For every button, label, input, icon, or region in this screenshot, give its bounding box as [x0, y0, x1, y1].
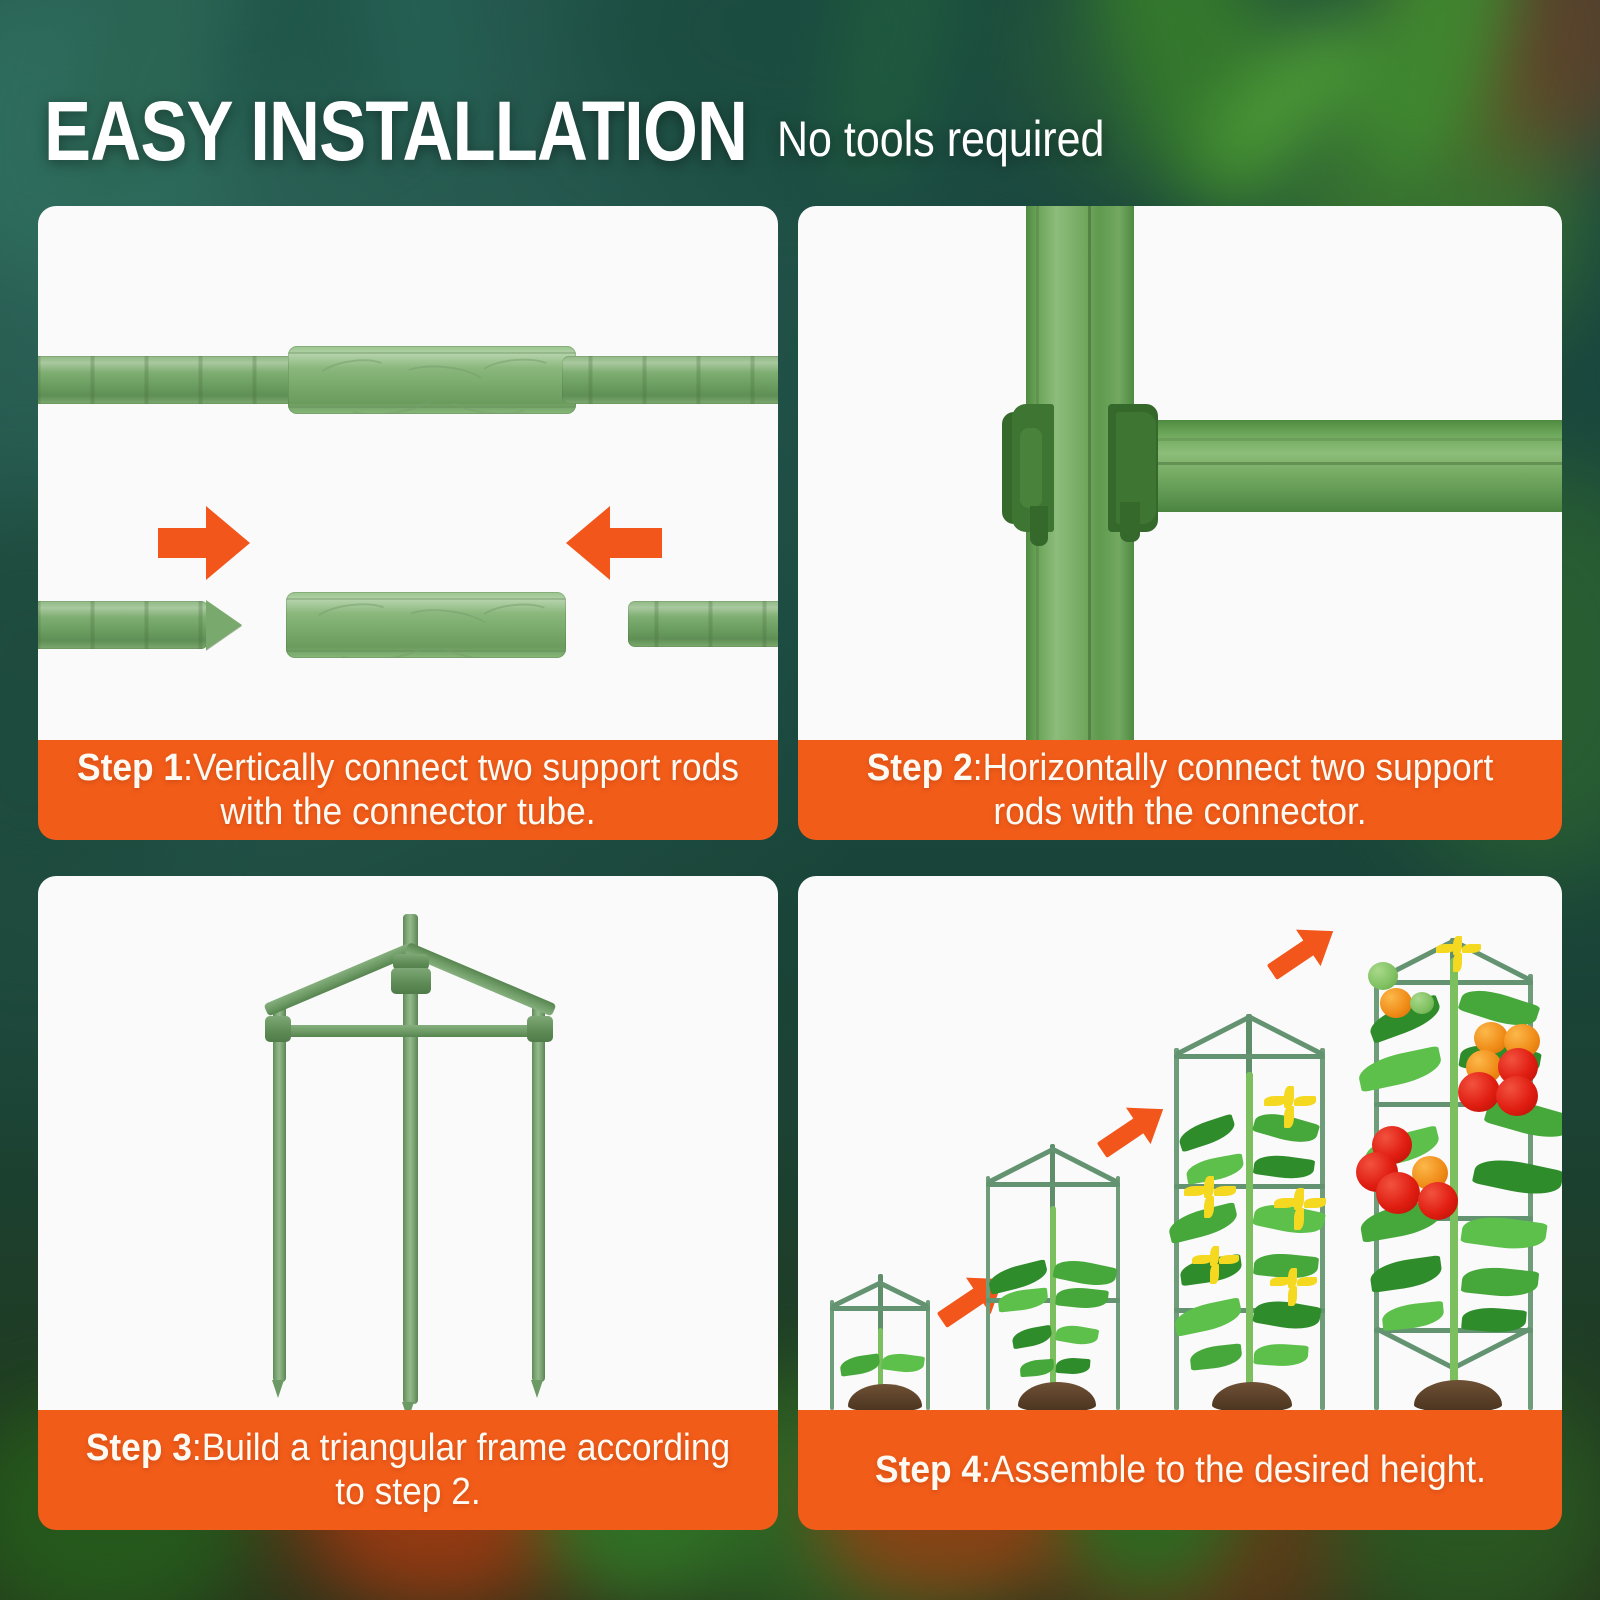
left-vertical-rod [273, 1002, 286, 1382]
growth-stage-1 [818, 876, 948, 1410]
tomato-red [1458, 1072, 1500, 1112]
flower-cluster [1274, 1268, 1310, 1304]
infographic-root: EASY INSTALLATION No tools required [0, 0, 1600, 1600]
horizontal-support-rod [1134, 420, 1562, 512]
step-1-text: Vertically connect two support rods with… [193, 747, 739, 833]
step-3-text: Build a triangular frame according to st… [202, 1427, 730, 1513]
flower-cluster [1268, 1086, 1308, 1126]
soil-mound-3 [1212, 1382, 1292, 1410]
heading-title: EASY INSTALLATION [44, 93, 747, 170]
soil-mound-1 [848, 1384, 922, 1410]
step-4-caption: Step 4:Assemble to the desired height. [798, 1410, 1562, 1530]
left-hub-connector [265, 1016, 291, 1042]
step-4-illustration [798, 876, 1562, 1410]
step-2-caption: Step 2:Horizontally connect two support … [798, 740, 1562, 840]
step-2-text: Horizontally connect two support rods wi… [983, 747, 1494, 833]
tomato-green [1410, 992, 1434, 1014]
step-card-2[interactable]: Step 2:Horizontally connect two support … [798, 206, 1562, 840]
arrow-right-icon [158, 506, 250, 580]
step-4-text: Assemble to the desired height. [990, 1449, 1485, 1491]
right-hub-connector [527, 1016, 553, 1042]
step-2-illustration [798, 206, 1562, 740]
soil-mound-2 [1018, 1382, 1096, 1410]
step-1-illustration [38, 206, 778, 740]
step-1-separator: : [183, 747, 193, 789]
tomato-orange [1380, 988, 1412, 1018]
step-4-separator: : [981, 1449, 991, 1491]
heading-subtitle: No tools required [777, 114, 1104, 164]
flower-cluster [1440, 936, 1474, 970]
flower-cluster [1196, 1246, 1232, 1282]
step-4-lead: Step 4 [875, 1449, 981, 1491]
growth-stage-3 [1150, 876, 1350, 1410]
arrow-left-icon [566, 506, 658, 580]
step-card-1[interactable]: Step 1:Vertically connect two support ro… [38, 206, 778, 840]
step-card-3[interactable]: Step 3:Build a triangular frame accordin… [38, 876, 778, 1530]
step-1-lead: Step 1 [77, 747, 183, 789]
step-2-lead: Step 2 [867, 747, 973, 789]
flower-cluster [1188, 1176, 1228, 1216]
tomato-red [1376, 1172, 1420, 1214]
step-3-separator: : [192, 1427, 202, 1469]
right-vertical-rod [532, 1002, 545, 1382]
step-3-caption: Step 3:Build a triangular frame accordin… [38, 1410, 778, 1530]
tomato-red [1496, 1076, 1538, 1116]
step-1-caption: Step 1:Vertically connect two support ro… [38, 740, 778, 840]
page-heading: EASY INSTALLATION No tools required [44, 66, 1344, 170]
plain-support-rod [628, 601, 778, 647]
soil-mound-4 [1414, 1380, 1502, 1410]
step-3-lead: Step 3 [86, 1427, 192, 1469]
tomato-red [1418, 1182, 1458, 1220]
step-card-4[interactable]: Step 4:Assemble to the desired height. [798, 876, 1562, 1530]
step-2-separator: : [973, 747, 983, 789]
tomato-orange [1474, 1022, 1508, 1054]
flower-cluster [1278, 1188, 1318, 1228]
connector-tube [286, 592, 566, 658]
horizontal-cross-bar [270, 1025, 548, 1037]
growth-stage-4 [1346, 876, 1562, 1410]
growth-stage-2 [968, 876, 1138, 1410]
pointed-support-rod [38, 601, 208, 649]
tomato-green [1368, 962, 1398, 990]
step-3-illustration [38, 876, 778, 1410]
